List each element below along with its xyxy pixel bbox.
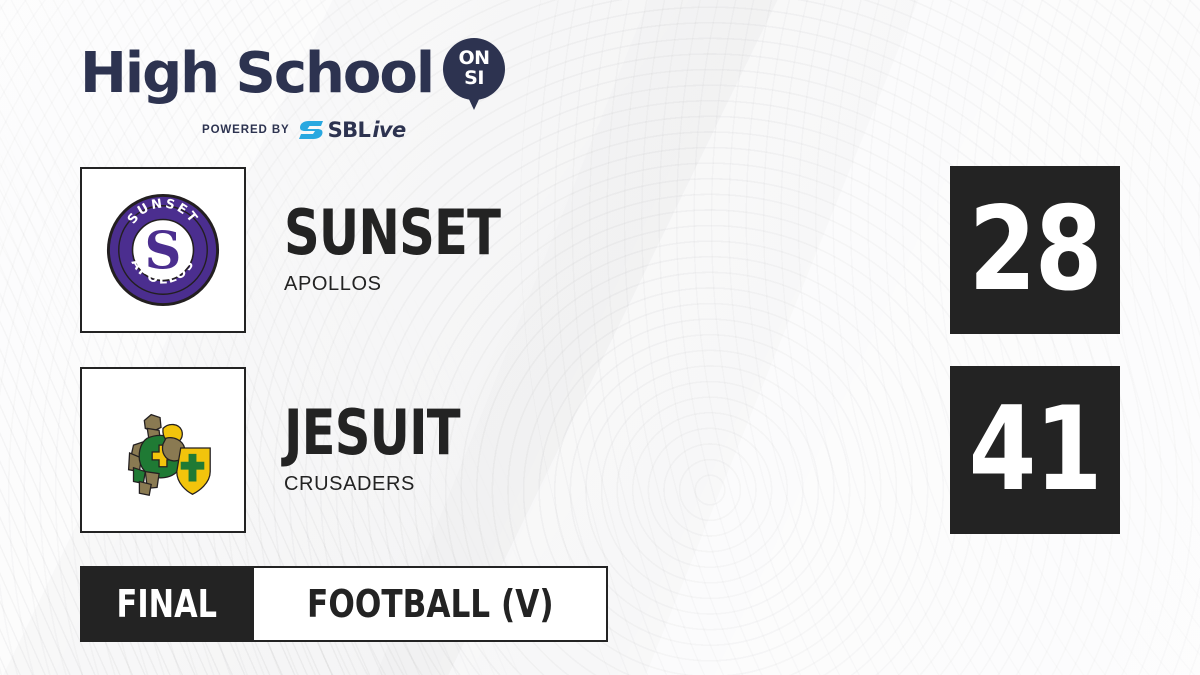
on-si-pin-icon: ON SI: [443, 38, 505, 112]
pin-badge-text: ON SI: [443, 48, 505, 88]
brand-wordmark: High School: [80, 47, 433, 101]
team-name: SUNSET: [284, 204, 953, 262]
pin-badge-line2: SI: [443, 68, 505, 88]
brand-header: High School ON SI POWERED BY SBL ive: [80, 36, 510, 142]
pin-badge-line1: ON: [443, 48, 505, 68]
team-logo-card: [80, 367, 246, 533]
status-bar: FINAL FOOTBALL (V): [80, 566, 608, 642]
brand-wordmark-row: High School ON SI: [80, 36, 510, 112]
team-logo-card: SUNSET APOLLOS S: [80, 167, 246, 333]
team-score-box: 41: [950, 366, 1120, 534]
sblive-word-main: SBL: [328, 118, 371, 142]
powered-by-row: POWERED BY SBL ive: [202, 118, 510, 142]
sunset-apollos-logo-icon: SUNSET APOLLOS S: [104, 191, 222, 309]
status-badge: FINAL: [80, 566, 254, 642]
team-score: 28: [969, 192, 1101, 308]
status-state-label: FINAL: [117, 582, 217, 626]
status-sport-label: FOOTBALL (V): [307, 582, 554, 626]
team-name: JESUIT: [284, 404, 953, 462]
sblive-logo: SBL ive: [299, 118, 406, 142]
team-score: 41: [969, 392, 1101, 508]
sport-label-panel: FOOTBALL (V): [254, 566, 609, 642]
scoreboard-graphic: High School ON SI POWERED BY SBL ive: [0, 0, 1200, 675]
powered-by-label: POWERED BY: [202, 124, 290, 136]
team-score-box: 28: [950, 166, 1120, 334]
svg-text:S: S: [145, 222, 182, 282]
sblive-word-suffix: ive: [372, 118, 405, 142]
jesuit-crusaders-logo-icon: [104, 391, 222, 509]
sblive-s-mark-icon: [299, 120, 325, 140]
